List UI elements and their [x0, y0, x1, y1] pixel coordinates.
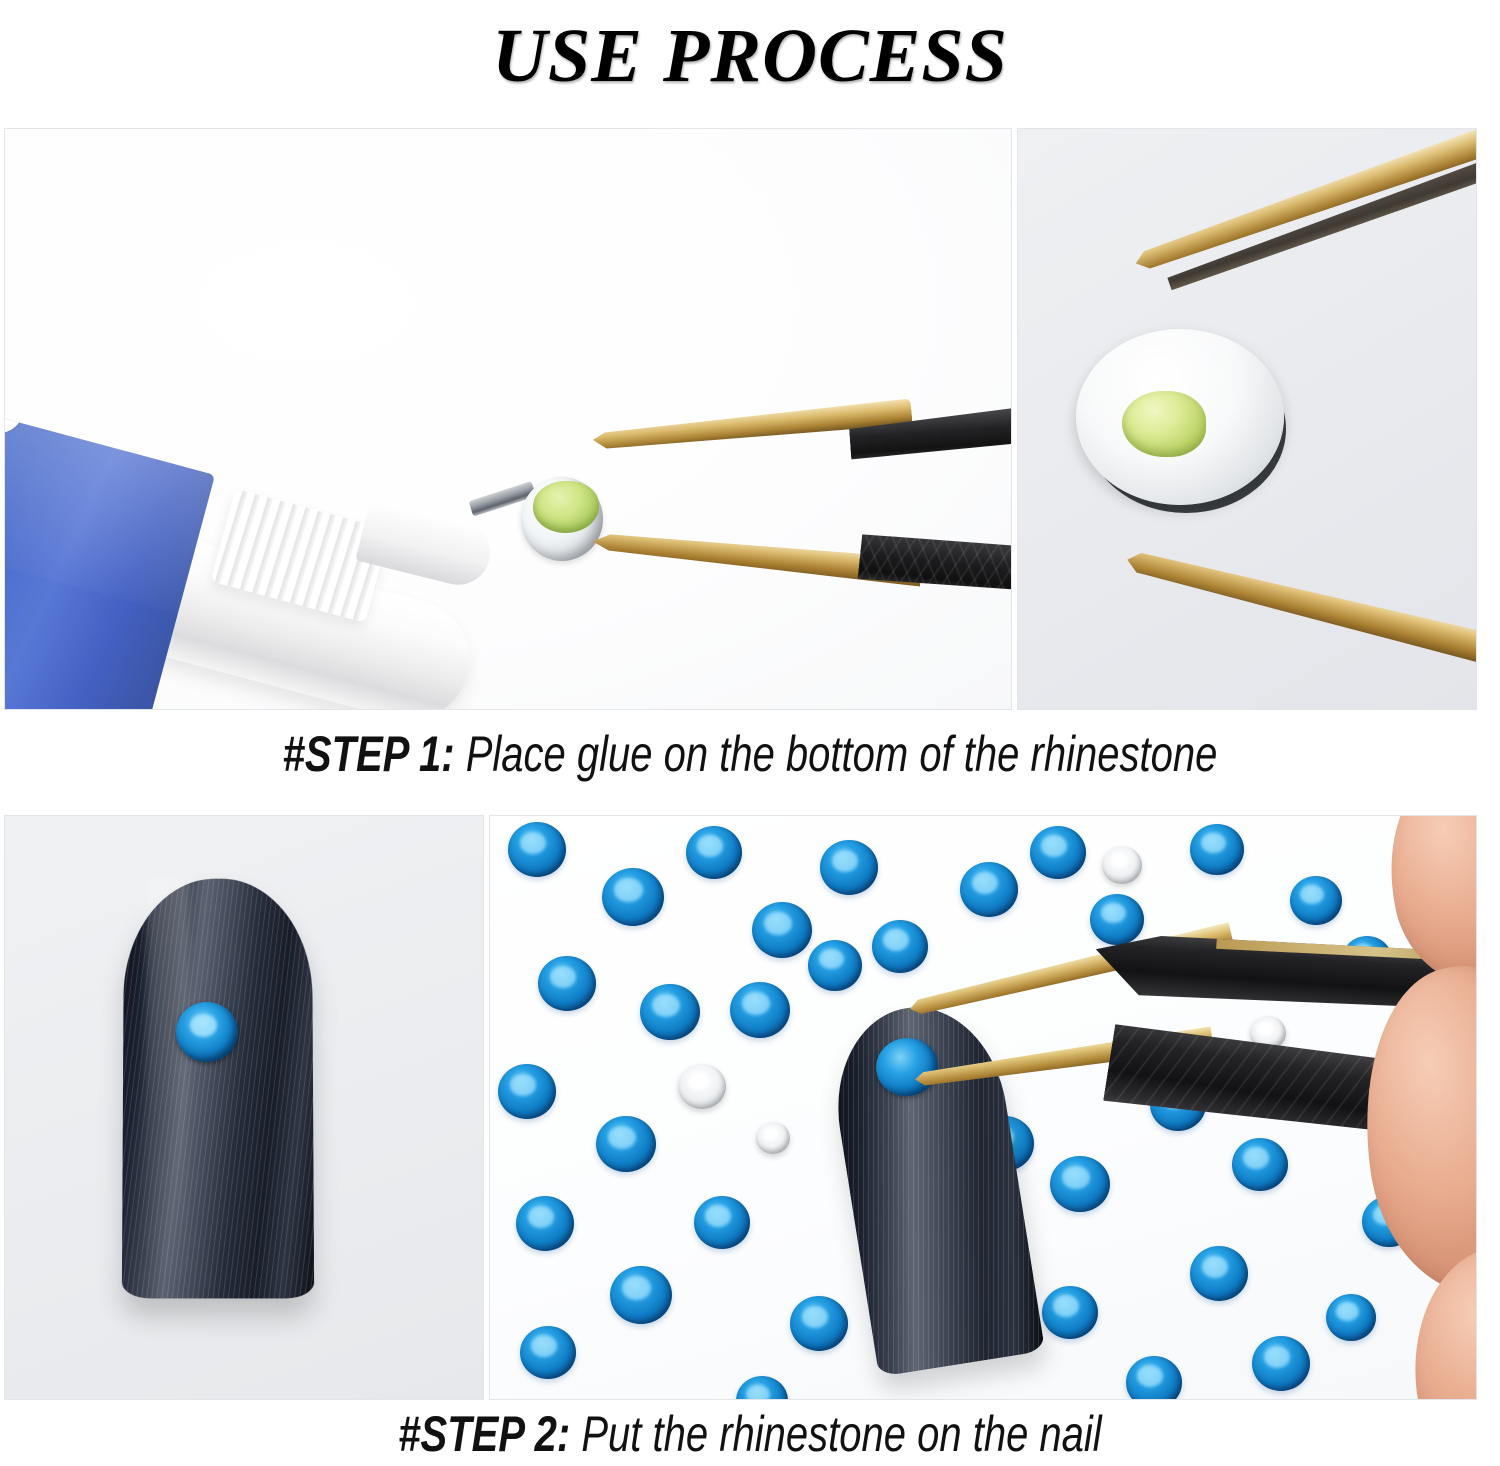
rhinestone [694, 1196, 750, 1249]
rhinestone [1326, 1294, 1376, 1341]
glue-on-stone-photo [1017, 128, 1477, 710]
rhinestone [640, 984, 700, 1040]
rhinestone [508, 822, 566, 877]
rhinestone [686, 826, 742, 879]
glue-drop [1122, 391, 1206, 457]
step-2-label: #STEP 2: [398, 1406, 570, 1462]
rhinestone [1042, 1286, 1098, 1339]
rhinestone [498, 1064, 556, 1119]
product-instruction-graphic: USE PROCESS G Rh #STEP 1: Place glue on … [0, 0, 1500, 1466]
step-2-caption: #STEP 2: Put the rhinestone on the nail [150, 1405, 1350, 1463]
page-title: USE PROCESS [0, 0, 1500, 112]
rhinestone [756, 1122, 790, 1154]
rhinestone [1190, 1246, 1248, 1301]
rhinestone [820, 840, 878, 895]
rhinestone [1090, 894, 1144, 945]
rhinestone [752, 902, 812, 958]
rhinestone [520, 1326, 576, 1379]
rhinestone [610, 1266, 672, 1324]
rhinestone [516, 1196, 574, 1251]
rhinestone [872, 920, 928, 973]
step-1-text: Place glue on the bottom of the rhinesto… [455, 726, 1218, 782]
blue-rhinestone-on-nail [176, 1002, 238, 1062]
rhinestone [596, 1116, 656, 1172]
rhinestone [1252, 1336, 1310, 1391]
glue-application-photo: G Rh [4, 128, 1012, 710]
rhinestone [960, 862, 1018, 917]
rhinestone [1050, 1156, 1110, 1212]
nail-tip [122, 879, 314, 1299]
rhinestone [1126, 1356, 1182, 1400]
placing-rhinestone-photo [489, 815, 1477, 1400]
rhinestone [1190, 824, 1244, 875]
step-1-label: #STEP 1: [283, 726, 455, 782]
rhinestone [602, 868, 664, 926]
rhinestone [1030, 826, 1086, 879]
rhinestone [808, 940, 862, 991]
rhinestone [678, 1064, 726, 1109]
glue-drop [533, 481, 599, 533]
rhinestone [1232, 1138, 1288, 1191]
finished-nail-photo [4, 815, 484, 1400]
step-2-text: Put the rhinestone on the nail [570, 1406, 1101, 1462]
rhinestone [1102, 846, 1142, 884]
rhinestone [730, 982, 790, 1038]
rhinestone [1290, 876, 1342, 925]
step-1-caption: #STEP 1: Place glue on the bottom of the… [150, 725, 1350, 783]
rhinestone [790, 1296, 848, 1351]
rhinestone [538, 956, 596, 1011]
